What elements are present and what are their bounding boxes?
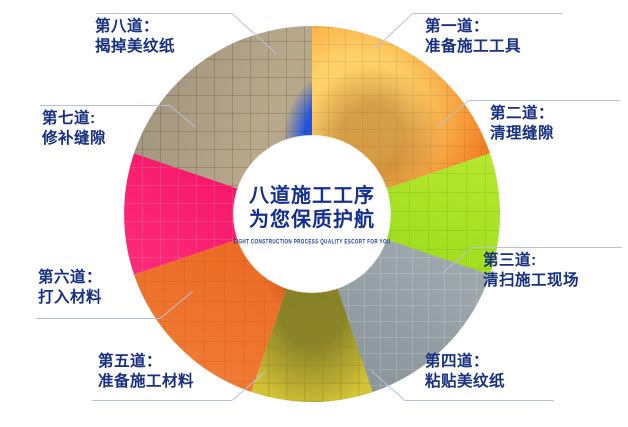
step-label-4[interactable]: 第四道： 粘贴美纹纸 [425, 352, 505, 392]
connector-line-8 [96, 13, 232, 14]
step-1-desc: 准备施工工具 [425, 37, 521, 57]
step-label-7[interactable]: 第七道: 修补缝隙 [42, 109, 106, 149]
connector-line-6 [36, 318, 160, 319]
center-headline-1: 八道施工工序 [249, 184, 375, 208]
center-headline-2: 为您保质护航 [249, 208, 375, 232]
step-label-6[interactable]: 第六道： 打入材料 [38, 268, 102, 308]
connector-line-3 [474, 247, 622, 248]
center-text-block: 八道施工工序 为您保质护航 EIGHT CONSTRUCTION PROCESS… [234, 136, 390, 292]
step-4-desc: 粘贴美纹纸 [425, 372, 505, 392]
center-circle: 八道施工工序 为您保质护航 EIGHT CONSTRUCTION PROCESS… [234, 136, 390, 292]
step-label-5[interactable]: 第五道： 准备施工材料 [98, 352, 194, 392]
poster-canvas: 八道施工工序 为您保质护航 EIGHT CONSTRUCTION PROCESS… [0, 0, 628, 427]
step-3-desc: 清扫施工现场 [483, 271, 579, 291]
step-label-3[interactable]: 第三道: 清扫施工现场 [483, 251, 579, 291]
center-subtitle-english: EIGHT CONSTRUCTION PROCESS QUALITY ESCOR… [233, 239, 390, 246]
step-5-desc: 准备施工材料 [98, 372, 194, 392]
step-2-title: 第二道： [490, 105, 554, 122]
step-label-1[interactable]: 第一道： 准备施工工具 [425, 17, 521, 57]
step-8-desc: 揭掉美纹纸 [95, 37, 175, 57]
step-8-title: 第八道： [95, 18, 159, 35]
connector-line-1 [414, 13, 562, 14]
step-5-title: 第五道： [98, 353, 162, 370]
step-7-desc: 修补缝隙 [42, 129, 106, 149]
step-6-desc: 打入材料 [38, 288, 102, 308]
connector-line-7 [40, 105, 170, 106]
connector-line-5 [92, 400, 232, 401]
step-7-title: 第七道: [42, 110, 96, 127]
step-label-8[interactable]: 第八道： 揭掉美纹纸 [95, 17, 175, 57]
connector-line-2 [470, 100, 620, 101]
step-6-title: 第六道： [38, 269, 102, 286]
step-2-desc: 清理缝隙 [490, 124, 554, 144]
connector-line-4 [404, 400, 554, 401]
step-3-title: 第三道: [483, 252, 537, 269]
step-label-2[interactable]: 第二道： 清理缝隙 [490, 104, 554, 144]
step-1-title: 第一道： [425, 18, 489, 35]
step-4-title: 第四道： [425, 353, 489, 370]
